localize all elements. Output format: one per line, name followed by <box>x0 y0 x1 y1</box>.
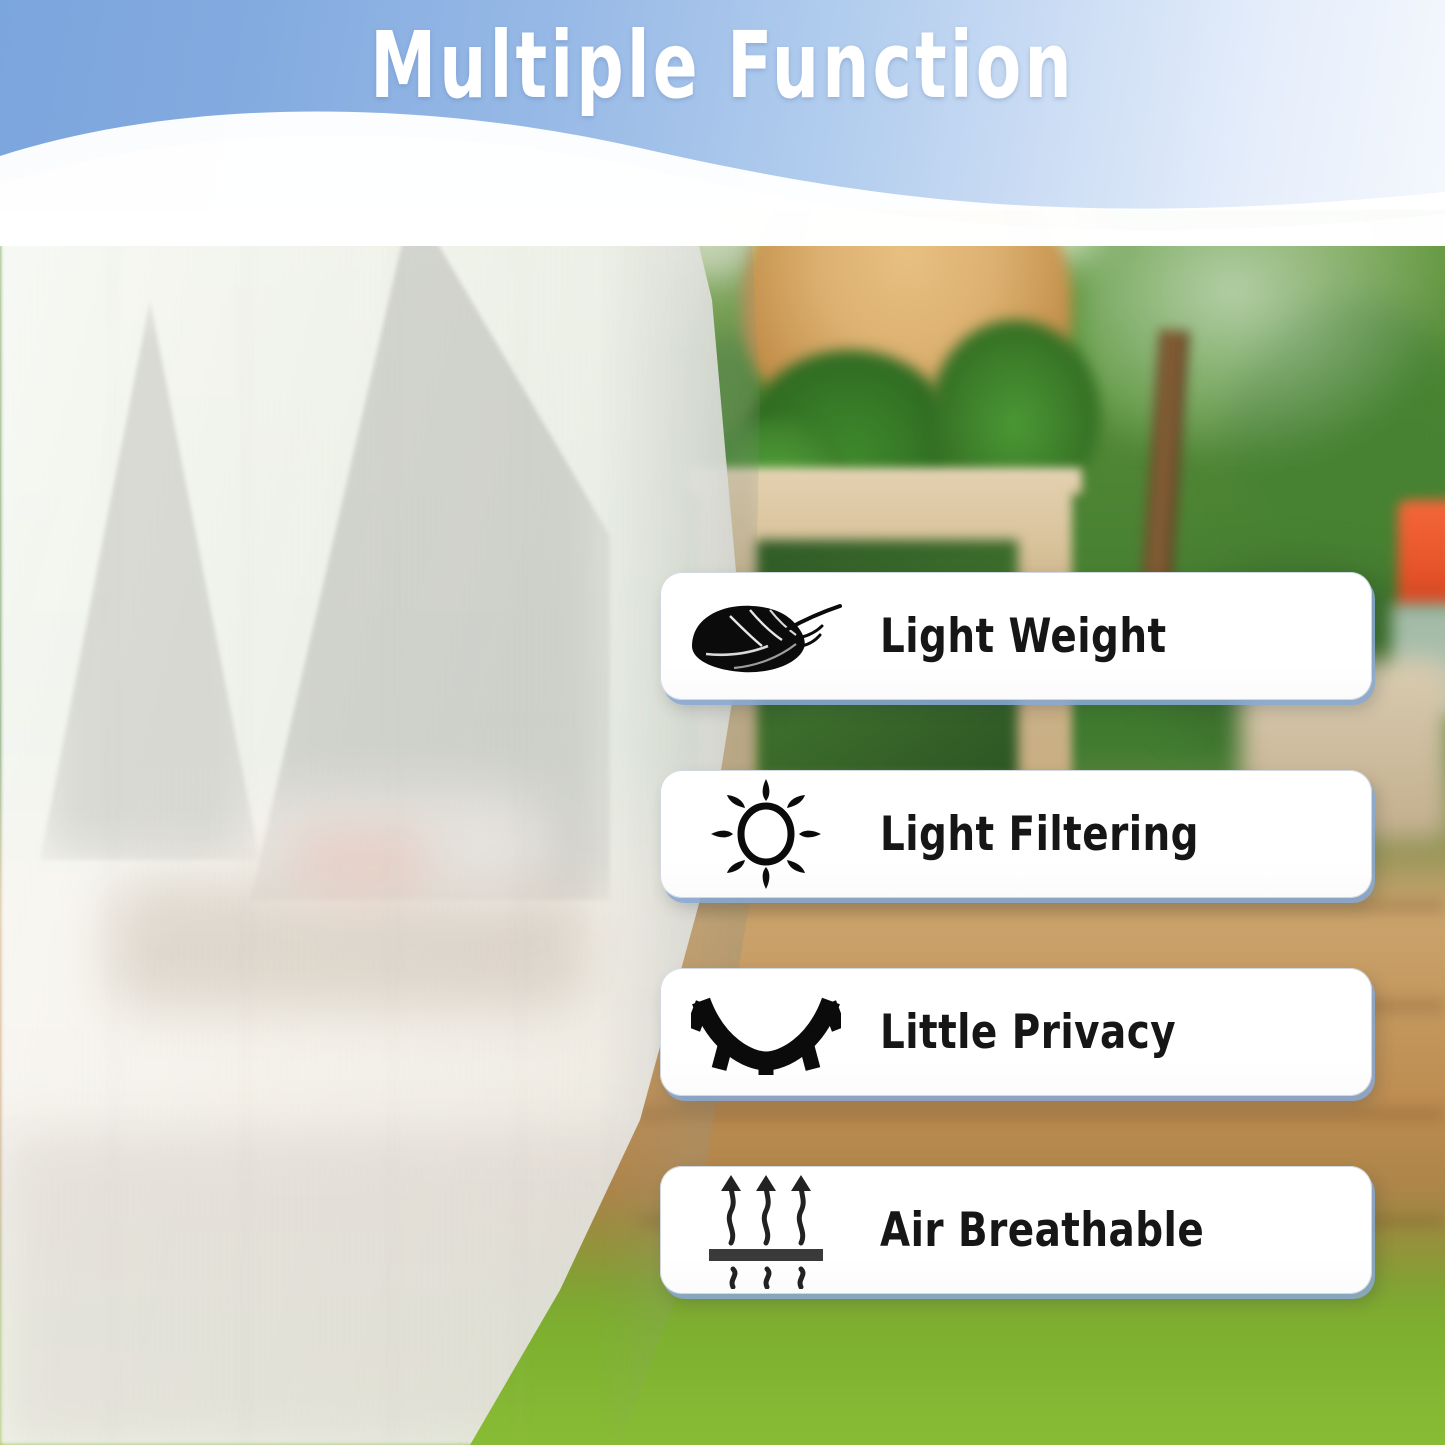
feature-badge-light-filtering[interactable]: Light Filtering <box>660 770 1372 898</box>
feature-badge-air-breathable[interactable]: Air Breathable <box>660 1166 1372 1294</box>
curtain-fold <box>520 0 521 1445</box>
ghost-warm-accent <box>290 830 430 890</box>
sun-icon <box>686 780 846 888</box>
feature-badge-label: Air Breathable <box>880 1203 1204 1258</box>
curtain-fold <box>112 0 113 1445</box>
closed-eye-icon <box>686 978 846 1086</box>
curtain-fold <box>246 0 247 1445</box>
feature-badge-little-privacy[interactable]: Little Privacy <box>660 968 1372 1096</box>
feature-badge-label: Light Filtering <box>880 807 1199 862</box>
feature-badge-light-weight[interactable]: Light Weight <box>660 572 1372 700</box>
feature-badge-list: Light Weight <box>660 572 1372 1294</box>
curtain-fold <box>392 0 393 1445</box>
product-feature-poster: Multiple Function Lig <box>0 0 1445 1445</box>
ghost-shape <box>40 300 260 860</box>
air-flow-icon <box>686 1176 846 1284</box>
orange-object <box>1398 500 1445 610</box>
sky-haze <box>1080 170 1445 470</box>
header-banner: Multiple Function <box>0 0 1445 210</box>
page-title: Multiple Function <box>145 18 1301 115</box>
feather-icon <box>686 582 846 690</box>
feature-badge-label: Little Privacy <box>880 1005 1176 1060</box>
feature-badge-label: Light Weight <box>880 609 1167 664</box>
